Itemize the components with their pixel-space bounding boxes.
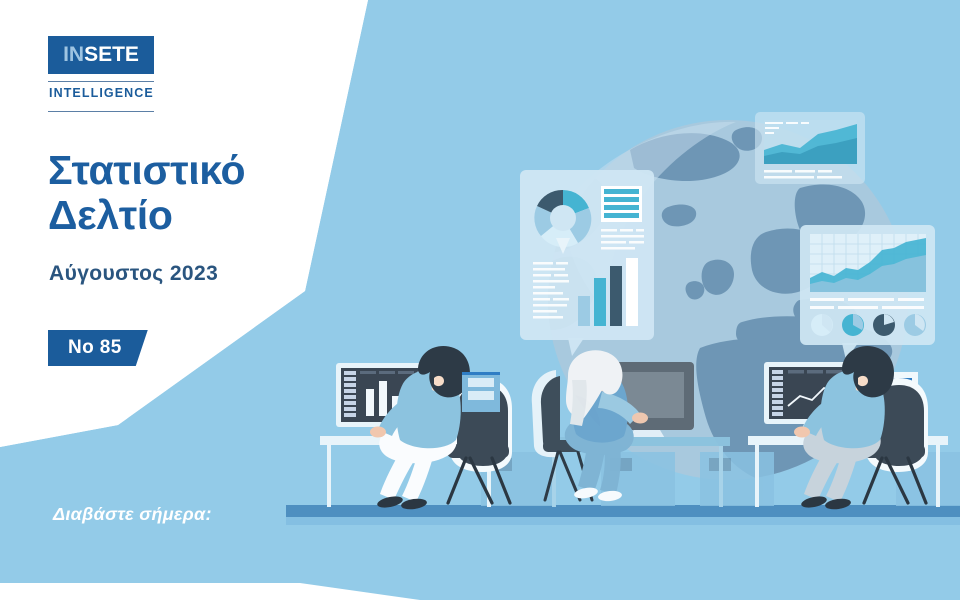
issue-number-badge: No 85 <box>48 330 148 366</box>
read-today-label: Διαβάστε σήμερα: <box>53 504 212 525</box>
logo-subtitle: INTELLIGENCE <box>48 82 188 104</box>
logo-divider-bottom <box>48 111 154 112</box>
insete-logo-icon: INSETE <box>48 36 154 74</box>
logo-text-in: IN <box>63 43 84 67</box>
insete-logo[interactable]: INSETE INTELLIGENCE <box>48 36 188 112</box>
logo-text-sete: SETE <box>84 43 139 67</box>
page-title-line1: Στατιστικό <box>48 148 328 193</box>
cover-page: INSETE INTELLIGENCE Στατιστικό Δελτίο Αύ… <box>0 0 960 600</box>
page-title: Στατιστικό Δελτίο <box>48 148 328 238</box>
page-title-line2: Δελτίο <box>48 193 328 238</box>
issue-date: Αύγουστος 2023 <box>49 262 218 286</box>
